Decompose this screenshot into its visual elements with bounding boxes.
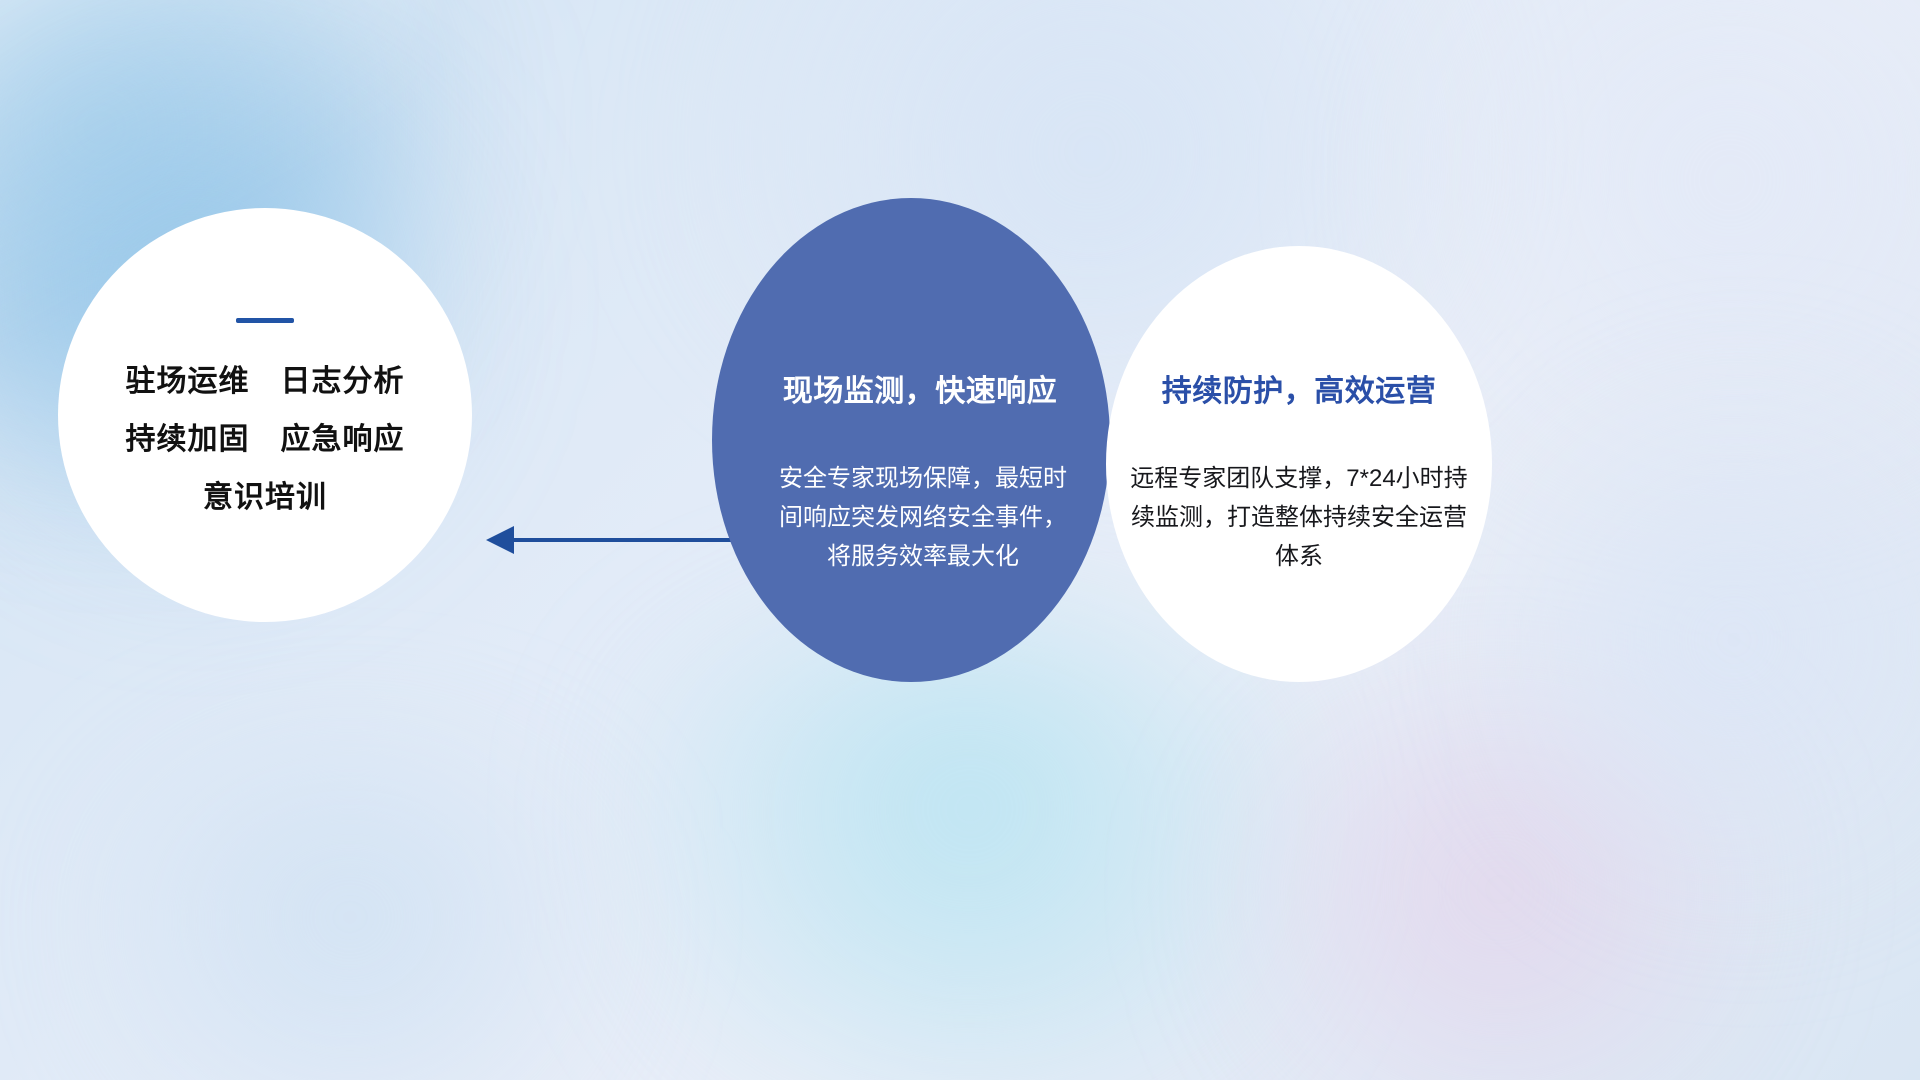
left-circle-content: 驻场运维 日志分析 持续加固 应急响应 意识培训	[58, 208, 472, 622]
left-circle-card[interactable]: 驻场运维 日志分析 持续加固 应急响应 意识培训	[58, 208, 472, 622]
divider-line-icon	[236, 318, 294, 323]
middle-circle-content: 现场监测，快速响应 安全专家现场保障，最短时间响应突发网络安全事件，将服务效率最…	[712, 198, 1110, 682]
left-circle-line-3: 意识培训	[203, 483, 327, 513]
right-circle-card[interactable]: 持续防护，高效运营 远程专家团队支撑，7*24小时持续监测，打造整体持续安全运营…	[1106, 246, 1492, 682]
right-circle-body: 远程专家团队支撑，7*24小时持续监测，打造整体持续安全运营体系	[1125, 460, 1473, 577]
right-circle-content: 持续防护，高效运营 远程专家团队支撑，7*24小时持续监测，打造整体持续安全运营…	[1106, 246, 1492, 682]
middle-circle-body: 安全专家现场保障，最短时间响应突发网络安全事件，将服务效率最大化	[773, 460, 1073, 577]
middle-circle-title: 现场监测，快速响应	[783, 366, 1058, 410]
left-circle-line-2: 持续加固 应急响应	[126, 425, 405, 455]
right-circle-title: 持续防护，高效运营	[1162, 366, 1437, 410]
arrow-left-icon	[480, 510, 740, 570]
middle-circle-card[interactable]: 现场监测，快速响应 安全专家现场保障，最短时间响应突发网络安全事件，将服务效率最…	[712, 198, 1110, 682]
slide-canvas: 驻场运维 日志分析 持续加固 应急响应 意识培训 现场监测，快速响应 安全专家现…	[0, 0, 1920, 1080]
left-circle-line-1: 驻场运维 日志分析	[126, 367, 405, 397]
